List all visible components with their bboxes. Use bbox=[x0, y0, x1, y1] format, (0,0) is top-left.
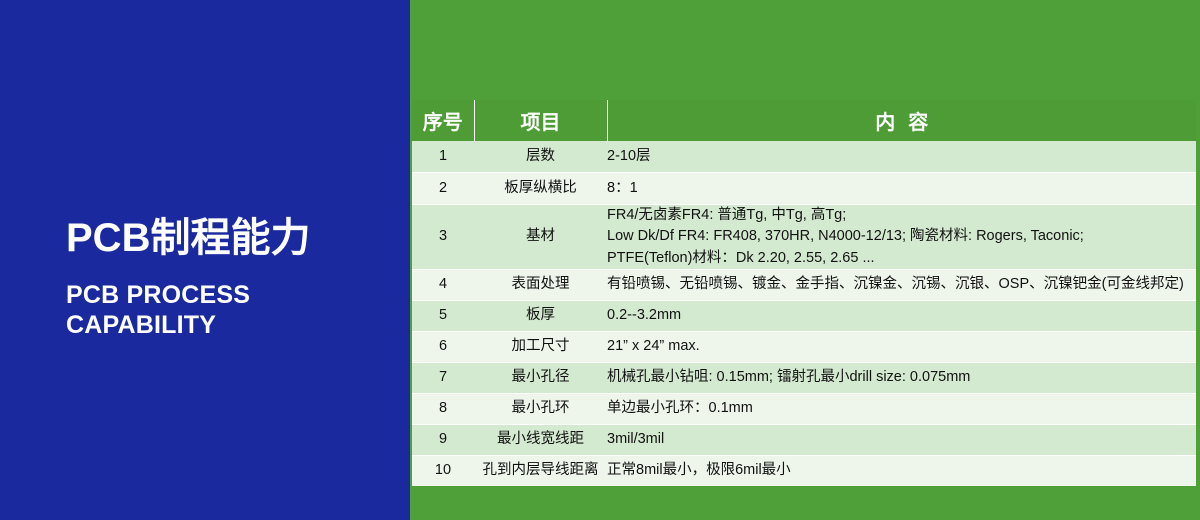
cell-row-number: 5 bbox=[412, 301, 474, 332]
content-line: 3mil/3mil bbox=[607, 429, 1196, 450]
column-header-no: 序号 bbox=[412, 100, 474, 141]
cell-item-name: 最小孔径 bbox=[474, 363, 607, 394]
cell-row-number: 7 bbox=[412, 363, 474, 394]
cell-content: 0.2--3.2mm bbox=[607, 301, 1196, 332]
cell-row-number: 1 bbox=[412, 141, 474, 173]
cell-content: 正常8mil最小，极限6mil最小 bbox=[607, 456, 1196, 487]
content-lines: 正常8mil最小，极限6mil最小 bbox=[607, 460, 1196, 481]
content-line: 单边最小孔环：0.1mm bbox=[607, 398, 1196, 419]
spec-table-wrapper: 序号 项目 内容 1层数2-10层2板厚纵横比8：13基材FR4/无卤素FR4:… bbox=[412, 100, 1196, 486]
content-lines: 21” x 24” max. bbox=[607, 336, 1196, 357]
cell-item-name: 最小线宽线距 bbox=[474, 425, 607, 456]
content-line: 机械孔最小钻咀: 0.15mm; 镭射孔最小drill size: 0.075m… bbox=[607, 367, 1196, 388]
cell-item-name: 加工尺寸 bbox=[474, 332, 607, 363]
table-row: 7最小孔径机械孔最小钻咀: 0.15mm; 镭射孔最小drill size: 0… bbox=[412, 363, 1196, 394]
content-line: 有铅喷锡、无铅喷锡、镀金、金手指、沉镍金、沉锡、沉银、OSP、沉镍钯金(可金线邦… bbox=[607, 274, 1196, 295]
column-header-item: 项目 bbox=[474, 100, 607, 141]
cell-item-name: 孔到内层导线距离 bbox=[474, 456, 607, 487]
table-row: 4表面处理有铅喷锡、无铅喷锡、镀金、金手指、沉镍金、沉锡、沉银、OSP、沉镍钯金… bbox=[412, 270, 1196, 301]
cell-content: 单边最小孔环：0.1mm bbox=[607, 394, 1196, 425]
cell-item-name: 表面处理 bbox=[474, 270, 607, 301]
table-row: 6加工尺寸21” x 24” max. bbox=[412, 332, 1196, 363]
content-line: 0.2--3.2mm bbox=[607, 305, 1196, 326]
cell-content: 21” x 24” max. bbox=[607, 332, 1196, 363]
cell-row-number: 8 bbox=[412, 394, 474, 425]
cell-content: 3mil/3mil bbox=[607, 425, 1196, 456]
table-header-row: 序号 项目 内容 bbox=[412, 100, 1196, 141]
content-lines: FR4/无卤素FR4: 普通Tg, 中Tg, 高Tg;Low Dk/Df FR4… bbox=[607, 205, 1196, 268]
cell-item-name: 基材 bbox=[474, 205, 607, 270]
content-lines: 2-10层 bbox=[607, 146, 1196, 167]
cell-row-number: 10 bbox=[412, 456, 474, 487]
cell-content: 2-10层 bbox=[607, 141, 1196, 173]
cell-row-number: 3 bbox=[412, 205, 474, 270]
cell-row-number: 4 bbox=[412, 270, 474, 301]
table-row: 2板厚纵横比8：1 bbox=[412, 173, 1196, 205]
cell-item-name: 板厚 bbox=[474, 301, 607, 332]
slide-root: PCB制程能力 PCB PROCESS CAPABILITY 序号 项目 内容 bbox=[0, 0, 1200, 520]
content-line: PTFE(Teflon)材料：Dk 2.20, 2.55, 2.65 ... bbox=[607, 248, 1196, 269]
table-header: 序号 项目 内容 bbox=[412, 100, 1196, 141]
content-lines: 单边最小孔环：0.1mm bbox=[607, 398, 1196, 419]
cell-item-name: 板厚纵横比 bbox=[474, 173, 607, 205]
cell-item-name: 最小孔环 bbox=[474, 394, 607, 425]
content-line: 21” x 24” max. bbox=[607, 336, 1196, 357]
content-lines: 有铅喷锡、无铅喷锡、镀金、金手指、沉镍金、沉锡、沉银、OSP、沉镍钯金(可金线邦… bbox=[607, 274, 1196, 295]
cell-content: 8：1 bbox=[607, 173, 1196, 205]
content-lines: 0.2--3.2mm bbox=[607, 305, 1196, 326]
content-line: FR4/无卤素FR4: 普通Tg, 中Tg, 高Tg; bbox=[607, 205, 1196, 226]
left-title-panel: PCB制程能力 PCB PROCESS CAPABILITY bbox=[0, 0, 410, 520]
pcb-capability-table: 序号 项目 内容 1层数2-10层2板厚纵横比8：13基材FR4/无卤素FR4:… bbox=[412, 100, 1196, 486]
content-line: 8：1 bbox=[607, 178, 1196, 199]
table-row: 3基材FR4/无卤素FR4: 普通Tg, 中Tg, 高Tg;Low Dk/Df … bbox=[412, 205, 1196, 270]
table-row: 1层数2-10层 bbox=[412, 141, 1196, 173]
content-lines: 8：1 bbox=[607, 178, 1196, 199]
cell-content: 有铅喷锡、无铅喷锡、镀金、金手指、沉镍金、沉锡、沉银、OSP、沉镍钯金(可金线邦… bbox=[607, 270, 1196, 301]
page-subtitle-english: PCB PROCESS CAPABILITY bbox=[66, 280, 396, 341]
content-line: 正常8mil最小，极限6mil最小 bbox=[607, 460, 1196, 481]
table-row: 9最小线宽线距3mil/3mil bbox=[412, 425, 1196, 456]
cell-row-number: 9 bbox=[412, 425, 474, 456]
content-line: 2-10层 bbox=[607, 146, 1196, 167]
cell-row-number: 6 bbox=[412, 332, 474, 363]
content-lines: 3mil/3mil bbox=[607, 429, 1196, 450]
column-header-content-label: 内容 bbox=[862, 112, 941, 134]
page-title-chinese: PCB制程能力 bbox=[66, 216, 396, 261]
content-lines: 机械孔最小钻咀: 0.15mm; 镭射孔最小drill size: 0.075m… bbox=[607, 367, 1196, 388]
table-row: 8最小孔环单边最小孔环：0.1mm bbox=[412, 394, 1196, 425]
title-block: PCB制程能力 PCB PROCESS CAPABILITY bbox=[66, 216, 396, 341]
cell-row-number: 2 bbox=[412, 173, 474, 205]
table-row: 5板厚0.2--3.2mm bbox=[412, 301, 1196, 332]
content-line: Low Dk/Df FR4: FR408, 370HR, N4000-12/13… bbox=[607, 226, 1196, 247]
cell-content: FR4/无卤素FR4: 普通Tg, 中Tg, 高Tg;Low Dk/Df FR4… bbox=[607, 205, 1196, 270]
table-body: 1层数2-10层2板厚纵横比8：13基材FR4/无卤素FR4: 普通Tg, 中T… bbox=[412, 141, 1196, 486]
column-header-content: 内容 bbox=[607, 100, 1196, 141]
cell-item-name: 层数 bbox=[474, 141, 607, 173]
page-subtitle-line1: PCB PROCESS bbox=[66, 280, 396, 311]
page-subtitle-line2: CAPABILITY bbox=[66, 310, 396, 341]
cell-content: 机械孔最小钻咀: 0.15mm; 镭射孔最小drill size: 0.075m… bbox=[607, 363, 1196, 394]
table-row: 10孔到内层导线距离正常8mil最小，极限6mil最小 bbox=[412, 456, 1196, 487]
